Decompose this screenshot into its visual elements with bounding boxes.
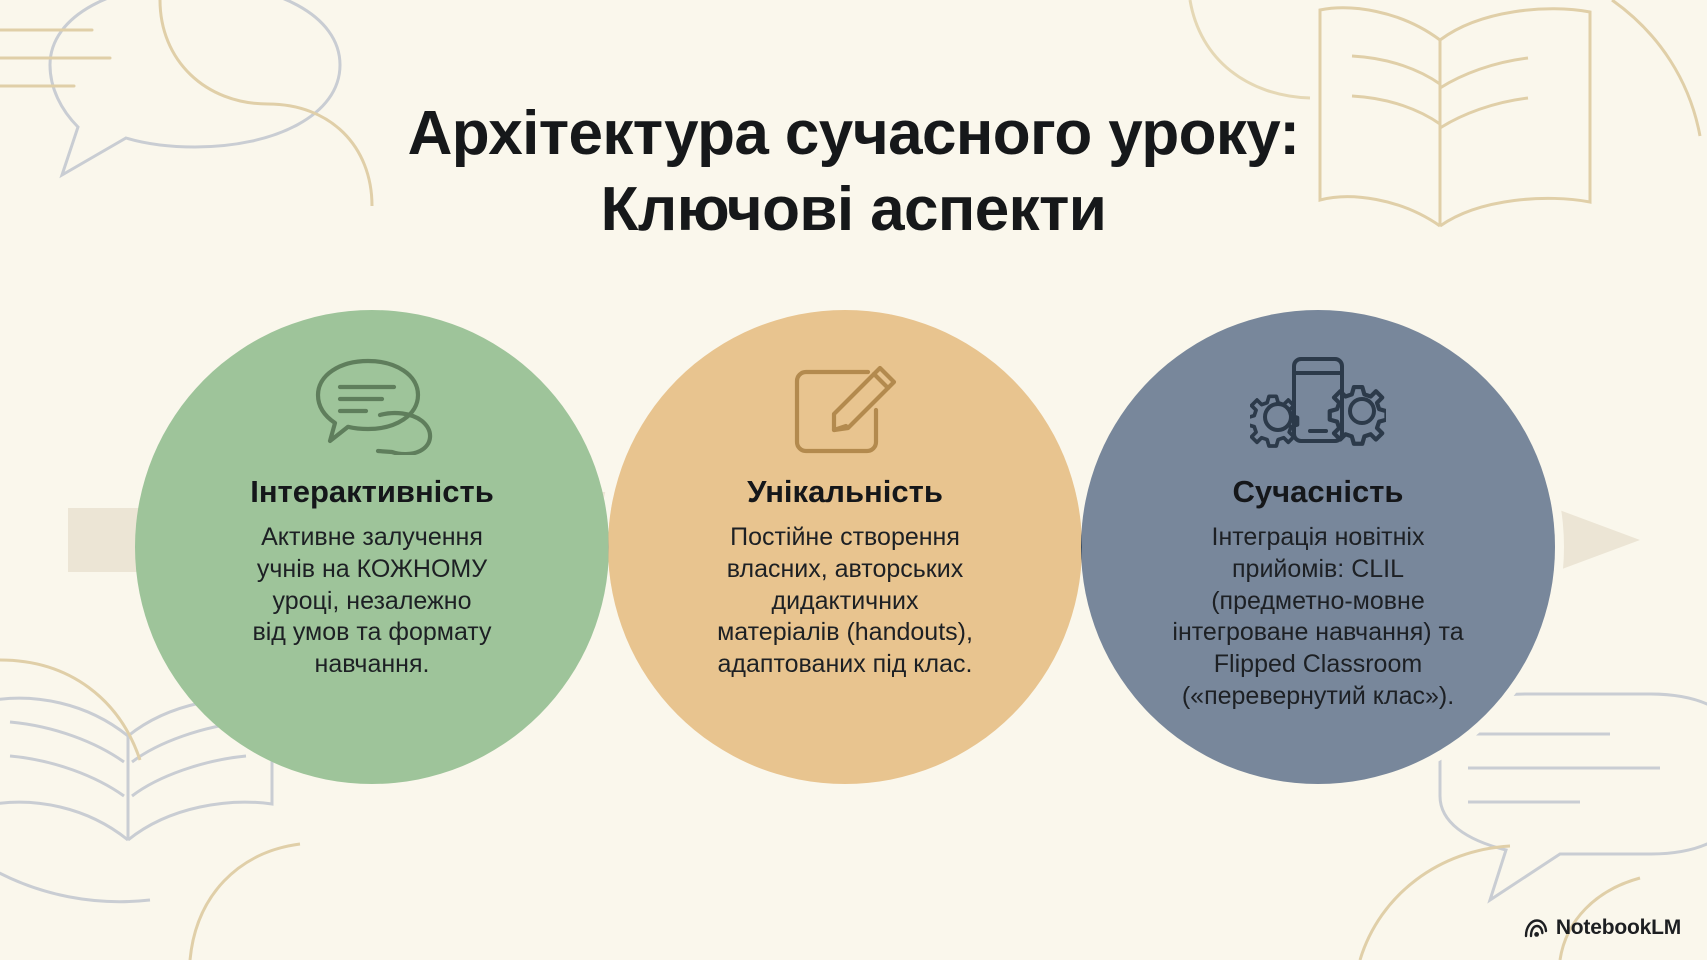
deco-arc-bottomright bbox=[1360, 846, 1640, 960]
notebooklm-label: NotebookLM bbox=[1556, 916, 1681, 940]
circle-body: Активне залучення учнів на КОЖНОМУ уроці… bbox=[172, 522, 572, 681]
circle-interactivity[interactable]: Інтерактивність Активне залучення учнів … bbox=[135, 310, 609, 784]
concept-circles: Інтерактивність Активне залучення учнів … bbox=[0, 310, 1707, 790]
deco-lines-topleft bbox=[0, 30, 110, 86]
circle-heading: Інтерактивність bbox=[250, 474, 494, 510]
circle-heading: Унікальність bbox=[747, 474, 943, 510]
circle-body: Інтеграція новітніх прийомів: CLIL (пред… bbox=[1118, 522, 1518, 713]
deco-arc-topright bbox=[1190, 0, 1310, 98]
pencil-edit-icon bbox=[790, 354, 900, 458]
notebooklm-branding: NotebookLM bbox=[1524, 916, 1681, 940]
circle-uniqueness[interactable]: Унікальність Постійне створення власних,… bbox=[608, 310, 1082, 784]
circle-heading: Сучасність bbox=[1233, 474, 1404, 510]
circle-body: Постійне створення власних, авторських д… bbox=[645, 522, 1045, 681]
title-line-2: Ключові аспекти bbox=[0, 172, 1707, 248]
page-title: Архітектура сучасного уроку: Ключові асп… bbox=[0, 96, 1707, 247]
slide-canvas: Архітектура сучасного уроку: Ключові асп… bbox=[0, 0, 1707, 960]
notebooklm-icon bbox=[1524, 918, 1548, 938]
speech-bubbles-icon bbox=[308, 354, 436, 458]
circle-modernity[interactable]: Сучасність Інтеграція новітніх прийомів:… bbox=[1081, 310, 1555, 784]
gears-device-icon bbox=[1250, 354, 1386, 458]
title-line-1: Архітектура сучасного уроку: bbox=[0, 96, 1707, 172]
